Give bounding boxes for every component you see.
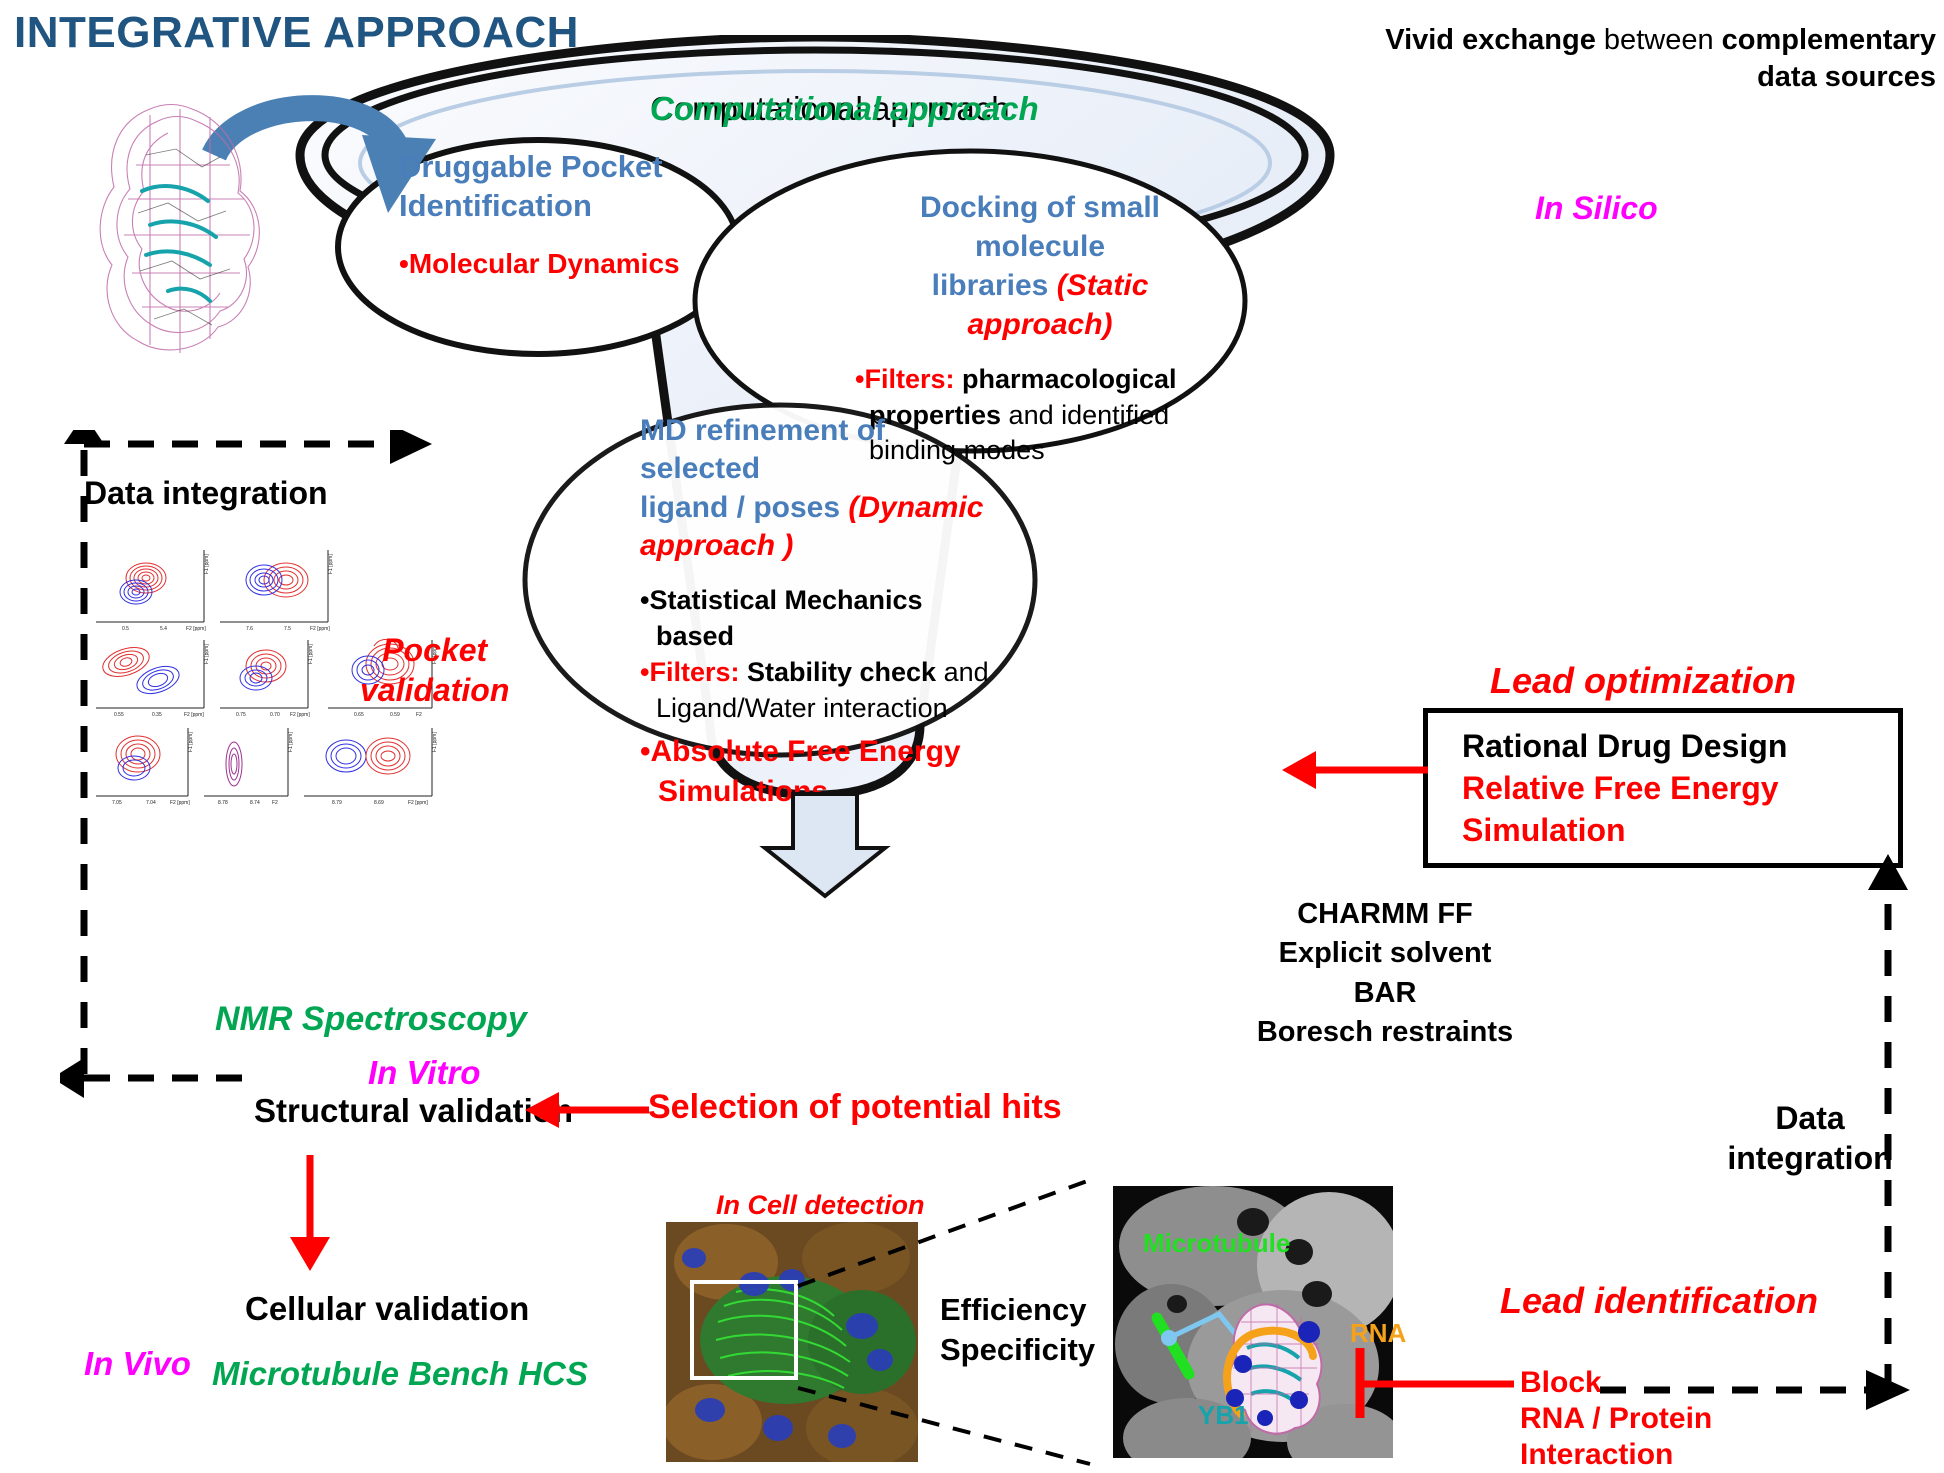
- docking-heading-line2a: libraries: [932, 269, 1057, 302]
- md-heading-line1: MD refinement of selected: [640, 414, 885, 485]
- in-silico-label: In Silico: [1535, 190, 1658, 227]
- method-note-1: CHARMM FF: [1190, 895, 1580, 934]
- svg-text:F1 [ppm]: F1 [ppm]: [204, 554, 210, 574]
- svg-text:F2 [ppm]: F2 [ppm]: [310, 626, 330, 632]
- block-label-line3: Interaction: [1520, 1437, 1712, 1473]
- md-heading-line3: approach ): [640, 529, 793, 562]
- svg-text:F2: F2: [272, 800, 278, 806]
- microtubule-bench-label: Microtubule Bench HCS: [212, 1355, 588, 1393]
- md-bullet-1-text: Statistical Mechanics based: [649, 585, 922, 651]
- svg-text:F1 [ppm]: F1 [ppm]: [328, 554, 334, 574]
- svg-text:7.04: 7.04: [146, 800, 156, 806]
- svg-text:F1 [ppm]: F1 [ppm]: [188, 732, 194, 752]
- svg-text:8.79: 8.79: [332, 800, 342, 806]
- header-note-line1-bold-b: complementary: [1722, 24, 1936, 56]
- hits-to-structural-arrow-icon: [521, 1088, 651, 1132]
- computational-approach-text: Computational approach: [650, 90, 1039, 128]
- pocket-heading-line2: Identification: [399, 188, 592, 223]
- efficiency-specificity-label: Efficiency Specificity: [940, 1290, 1095, 1371]
- specificity-label: Specificity: [940, 1330, 1095, 1370]
- docking-heading-line1: Docking of small molecule: [920, 191, 1160, 263]
- lead-identification-label: Lead identification: [1500, 1280, 1818, 1322]
- in-vivo-label: In Vivo: [84, 1345, 191, 1383]
- pocket-bullet-1: •Molecular Dynamics: [399, 248, 699, 280]
- rdd-line-1: Rational Drug Design: [1462, 725, 1898, 767]
- lead-optimization-arrow-icon: [1280, 745, 1430, 795]
- efficiency-label: Efficiency: [940, 1290, 1095, 1330]
- svg-text:F1 [ppm]: F1 [ppm]: [288, 732, 294, 752]
- nmr-spectroscopy-label: NMR Spectroscopy: [215, 1000, 527, 1039]
- structural-to-cellular-arrow-icon: [282, 1155, 338, 1275]
- svg-text:8.78: 8.78: [218, 800, 228, 806]
- microtubule-annotation-label: Microtubule: [1143, 1228, 1290, 1259]
- svg-text:0.5: 0.5: [122, 626, 129, 632]
- selection-of-hits-label: Selection of potential hits: [648, 1088, 1062, 1127]
- header-note-line1-plain: between: [1596, 24, 1722, 56]
- svg-text:7.05: 7.05: [112, 800, 122, 806]
- md-bullet-2-bold: Stability check: [739, 657, 936, 687]
- rdd-line-2: Relative Free Energy: [1462, 767, 1898, 809]
- in-vitro-label: In Vitro: [368, 1054, 480, 1092]
- svg-text:F1 [ppm]: F1 [ppm]: [204, 644, 210, 664]
- pocket-heading-line1: Druggable Pocket: [399, 149, 663, 184]
- block-marker-icon: [1352, 1338, 1522, 1428]
- method-note-4: Boresch restraints: [1190, 1013, 1580, 1052]
- svg-text:0.75: 0.75: [236, 712, 246, 718]
- md-refinement-block: MD refinement of selected ligand / poses…: [640, 412, 1000, 813]
- cellular-validation-label: Cellular validation: [245, 1290, 529, 1328]
- druggable-pocket-block: Druggable Pocket Identification •Molecul…: [399, 148, 699, 280]
- rdd-line-3: Simulation: [1462, 809, 1898, 851]
- header-note-line1-bold-a: Vivid exchange: [1385, 24, 1596, 56]
- data-integration-label-left: Data integration: [84, 475, 328, 512]
- method-note-2: Explicit solvent: [1190, 934, 1580, 973]
- svg-text:F2 [ppm]: F2 [ppm]: [408, 800, 428, 806]
- svg-text:5.4: 5.4: [160, 626, 167, 632]
- pocket-validation-line2: validation: [360, 672, 509, 708]
- data-integration-right-line2: integration: [1710, 1138, 1910, 1178]
- funnel-output-arrow-icon: [755, 790, 895, 900]
- data-integration-right-line1: Data: [1710, 1098, 1910, 1138]
- svg-text:F2 [ppm]: F2 [ppm]: [184, 712, 204, 718]
- svg-text:F2: F2: [416, 712, 422, 718]
- pocket-validation-line1: Pocket: [382, 632, 487, 668]
- rational-drug-design-box: Rational Drug Design Relative Free Energ…: [1423, 708, 1903, 868]
- md-heading-line2a: ligand / poses: [640, 491, 848, 524]
- pocket-bullet-1-text: Molecular Dynamics: [409, 248, 680, 279]
- svg-text:8.69: 8.69: [374, 800, 384, 806]
- svg-text:0.59: 0.59: [390, 712, 400, 718]
- docking-bullet-label: Filters:: [864, 364, 954, 394]
- protein-structure-icon: [80, 95, 280, 365]
- header-note-line2: data sources: [1757, 61, 1936, 93]
- svg-text:0.65: 0.65: [354, 712, 364, 718]
- header-note: Vivid exchange between complementary dat…: [1296, 22, 1936, 96]
- yb1-annotation-label: YB1: [1198, 1400, 1249, 1431]
- method-notes: CHARMM FF Explicit solvent BAR Boresch r…: [1190, 895, 1580, 1053]
- svg-text:F1 [ppm]: F1 [ppm]: [432, 732, 438, 752]
- md-bullet-2: •Filters: Stability check and Ligand/Wat…: [640, 654, 1000, 726]
- md-bullet-2-label: Filters:: [649, 657, 739, 687]
- svg-text:7.5: 7.5: [284, 626, 291, 632]
- svg-text:0.70: 0.70: [270, 712, 280, 718]
- svg-text:0.55: 0.55: [114, 712, 124, 718]
- svg-text:F1 [ppm]: F1 [ppm]: [308, 644, 314, 664]
- method-note-3: BAR: [1190, 974, 1580, 1013]
- svg-text:F2 [ppm]: F2 [ppm]: [290, 712, 310, 718]
- md-bullet-1: •Statistical Mechanics based: [640, 582, 1000, 654]
- data-integration-label-right: Data integration: [1710, 1098, 1910, 1178]
- svg-text:8.74: 8.74: [250, 800, 260, 806]
- md-heading-line2b: (Dynamic: [848, 491, 983, 524]
- lead-optimization-label: Lead optimization: [1490, 660, 1796, 702]
- svg-text:7.6: 7.6: [246, 626, 253, 632]
- svg-text:0.35: 0.35: [152, 712, 162, 718]
- svg-text:F2 [ppm]: F2 [ppm]: [186, 626, 206, 632]
- pocket-validation-label: Pocket validation: [360, 630, 509, 710]
- svg-text:F2 [ppm]: F2 [ppm]: [170, 800, 190, 806]
